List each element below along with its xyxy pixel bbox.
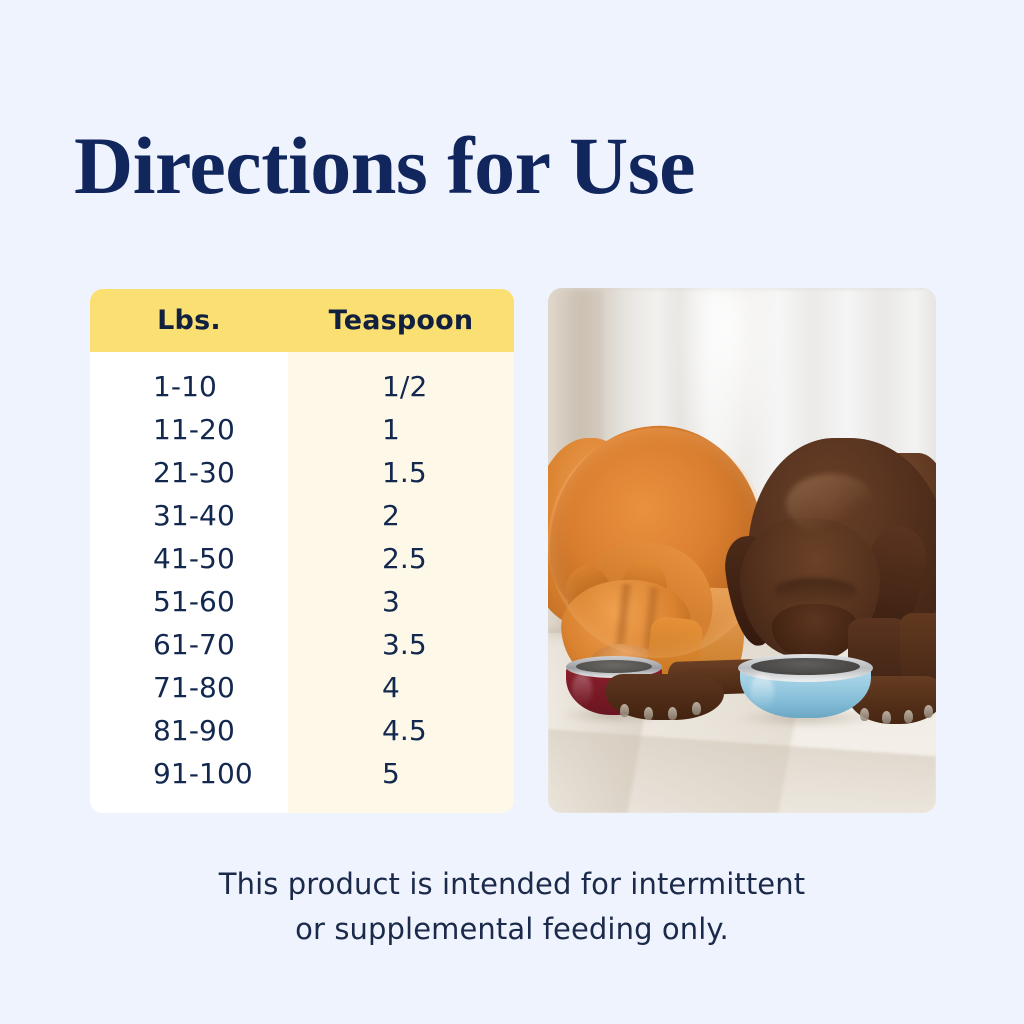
cell-teaspoon: 1.5 [288,456,514,489]
cell-lbs: 11-20 [90,413,288,446]
dog-claw [692,702,701,715]
dog-claw [668,707,677,720]
table-row: 81-90 4.5 [90,709,514,752]
red-bowl-highlight [572,673,592,707]
cell-lbs: 81-90 [90,714,288,747]
disclaimer-text: This product is intended for intermitten… [0,862,1024,952]
cell-lbs: 21-30 [90,456,288,489]
cell-teaspoon: 3 [288,585,514,618]
table-row: 41-50 2.5 [90,537,514,580]
cell-lbs: 31-40 [90,499,288,532]
table-row: 21-30 1.5 [90,451,514,494]
cell-teaspoon: 3.5 [288,628,514,661]
table-row: 1-10 1/2 [90,365,514,408]
column-header-lbs: Lbs. [90,305,288,336]
cell-lbs: 51-60 [90,585,288,618]
feeding-chart-table: Lbs. Teaspoon 1-10 1/2 11-20 1 21-30 1.5… [90,289,514,813]
red-bowl-interior [576,660,652,673]
dog-paw-left [606,674,724,720]
pets-eating-photo [548,288,936,813]
blue-bowl-interior [751,658,860,675]
disclaimer-line-1: This product is intended for intermitten… [0,862,1024,907]
cell-teaspoon: 1 [288,413,514,446]
blue-bowl-highlight [750,674,774,710]
cell-lbs: 1-10 [90,370,288,403]
cell-lbs: 61-70 [90,628,288,661]
dog-claw [644,707,653,720]
cell-lbs: 41-50 [90,542,288,575]
table-row: 51-60 3 [90,580,514,623]
cell-teaspoon: 2 [288,499,514,532]
dog-brow [774,578,856,604]
disclaimer-line-2: or supplemental feeding only. [0,907,1024,952]
dog-claw [882,711,891,724]
cell-teaspoon: 4.5 [288,714,514,747]
table-body: 1-10 1/2 11-20 1 21-30 1.5 31-40 2 41-50… [90,352,514,813]
page-title: Directions for Use [74,118,695,214]
table-row: 61-70 3.5 [90,623,514,666]
directions-for-use-panel: Directions for Use Lbs. Teaspoon 1-10 1/… [0,0,1024,1024]
table-header-row: Lbs. Teaspoon [90,289,514,352]
cell-lbs: 91-100 [90,757,288,790]
dog-head-highlight [786,474,876,534]
table-row: 11-20 1 [90,408,514,451]
cell-lbs: 71-80 [90,671,288,704]
dog-claw [904,710,913,723]
column-header-teaspoon: Teaspoon [288,305,514,336]
dog-claw [924,705,933,718]
dog-claw [620,704,629,717]
cell-teaspoon: 5 [288,757,514,790]
cell-teaspoon: 1/2 [288,370,514,403]
table-row: 91-100 5 [90,752,514,795]
table-row: 71-80 4 [90,666,514,709]
cell-teaspoon: 4 [288,671,514,704]
table-row: 31-40 2 [90,494,514,537]
cell-teaspoon: 2.5 [288,542,514,575]
